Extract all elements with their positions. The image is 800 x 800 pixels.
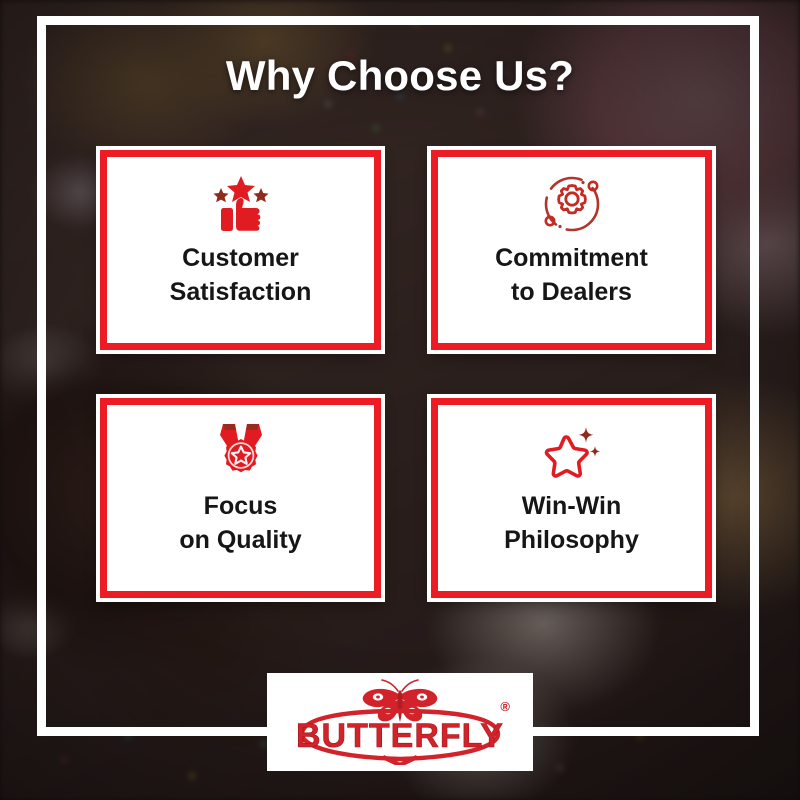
feature-card-label: Focus on Quality bbox=[173, 489, 307, 557]
thumbs-up-stars-icon bbox=[209, 173, 273, 235]
feature-card-customer-satisfaction[interactable]: Customer Satisfaction bbox=[100, 150, 381, 350]
feature-card-label: Commitment to Dealers bbox=[489, 241, 654, 309]
page-title: Why Choose Us? bbox=[0, 52, 800, 100]
feature-card-line-1: Customer bbox=[182, 244, 299, 272]
feature-card-line-2: on Quality bbox=[179, 523, 301, 557]
brand-logo: BUTTERFLY ® bbox=[280, 679, 520, 765]
feature-card-line-1: Commitment bbox=[495, 244, 648, 272]
feature-card-win-win-philosophy[interactable]: Win-Win Philosophy bbox=[431, 398, 712, 598]
feature-card-label: Customer Satisfaction bbox=[164, 241, 318, 309]
gear-orbit-icon bbox=[541, 173, 603, 235]
medal-star-icon bbox=[212, 421, 270, 483]
registered-trademark-icon: ® bbox=[500, 699, 510, 714]
brand-logo-plate[interactable]: BUTTERFLY ® bbox=[267, 673, 533, 771]
feature-card-focus-on-quality[interactable]: Focus on Quality bbox=[100, 398, 381, 598]
poster: Why Choose Us? Customer bbox=[0, 0, 800, 800]
feature-card-grid: Customer Satisfaction bbox=[100, 150, 712, 598]
feature-card-commitment-to-dealers[interactable]: Commitment to Dealers bbox=[431, 150, 712, 350]
feature-card-line-2: Philosophy bbox=[504, 523, 639, 557]
star-sparkle-icon bbox=[541, 421, 603, 483]
feature-card-label: Win-Win Philosophy bbox=[498, 489, 645, 557]
brand-wordmark: BUTTERFLY bbox=[280, 717, 520, 756]
feature-card-line-1: Win-Win bbox=[522, 492, 622, 520]
feature-card-line-2: Satisfaction bbox=[170, 275, 312, 309]
feature-card-line-1: Focus bbox=[204, 492, 278, 520]
feature-card-line-2: to Dealers bbox=[495, 275, 648, 309]
